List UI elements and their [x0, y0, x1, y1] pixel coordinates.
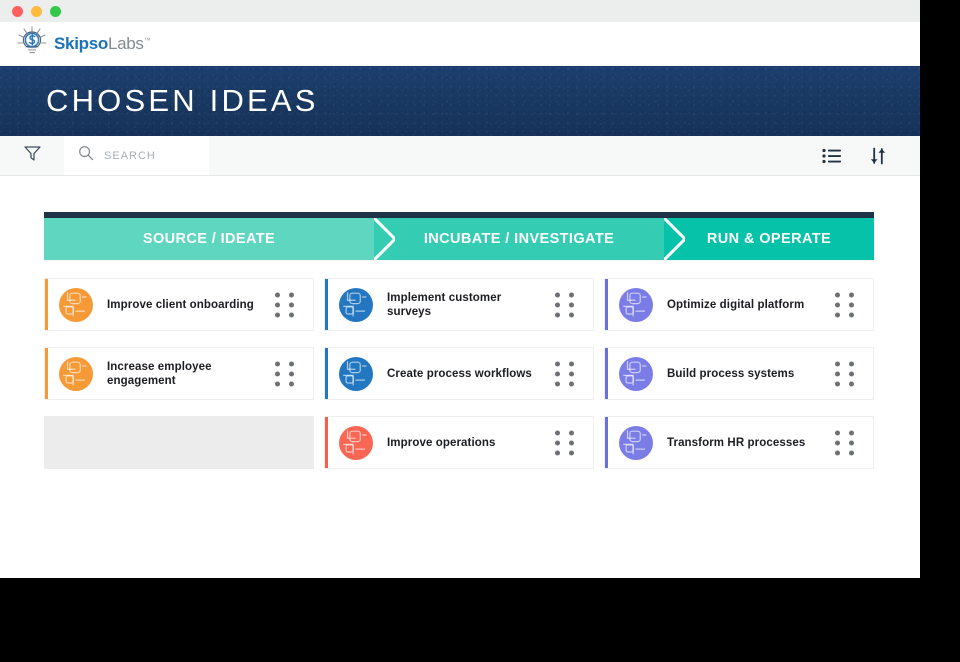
toolbar-actions: [822, 136, 920, 175]
toolbar-spacer: [209, 136, 822, 175]
stage-1[interactable]: INCUBATE / INVESTIGATE: [374, 218, 664, 260]
page-hero-banner: CHOSEN IDEAS: [0, 66, 920, 136]
card-accent-bar: [45, 348, 48, 399]
search-icon: [78, 145, 94, 166]
card-title: Optimize digital platform: [667, 298, 817, 312]
stage-label: RUN & OPERATE: [707, 231, 831, 247]
idea-card[interactable]: Transform HR processes: [604, 416, 874, 469]
drag-handle-icon[interactable]: [555, 361, 576, 386]
card-avatar: [59, 357, 93, 391]
title-accent-dot: [308, 92, 311, 95]
board-area: SOURCE / IDEATEINCUBATE / INVESTIGATERUN…: [0, 176, 920, 469]
lightbulb-s-icon: [16, 26, 50, 61]
stage-2[interactable]: RUN & OPERATE: [664, 218, 874, 260]
idea-card[interactable]: Improve operations: [324, 416, 594, 469]
window-titlebar: [0, 0, 920, 22]
card-title: Create process workflows: [387, 367, 537, 381]
card-title: Build process systems: [667, 367, 817, 381]
stage-bar: SOURCE / IDEATEINCUBATE / INVESTIGATERUN…: [44, 218, 874, 260]
drag-handle-icon[interactable]: [555, 430, 576, 455]
idea-card[interactable]: Increase employee engagement: [44, 347, 314, 400]
card-accent-bar: [325, 348, 328, 399]
board-toolbar: [0, 136, 920, 176]
idea-card[interactable]: Optimize digital platform: [604, 278, 874, 331]
brand-logo[interactable]: SkipsoLabs™: [16, 26, 150, 61]
sort-button[interactable]: [868, 146, 888, 166]
abstract-shapes-icon: [59, 357, 93, 391]
page-title: CHOSEN IDEAS: [46, 83, 319, 119]
card-avatar: [339, 357, 373, 391]
logo-bar: SkipsoLabs™: [0, 22, 920, 66]
empty-drop-slot[interactable]: [44, 416, 314, 469]
list-view-button[interactable]: [822, 147, 842, 165]
stage-0[interactable]: SOURCE / IDEATE: [44, 218, 374, 260]
search-input[interactable]: [104, 150, 190, 162]
stage-chevron-icon: [664, 218, 685, 260]
card-avatar: [339, 288, 373, 322]
card-avatar: [59, 288, 93, 322]
card-title: Transform HR processes: [667, 436, 817, 450]
card-avatar: [619, 288, 653, 322]
minimize-window-button[interactable]: [31, 6, 42, 17]
drag-handle-icon[interactable]: [835, 430, 856, 455]
drag-handle-icon[interactable]: [835, 361, 856, 386]
abstract-shapes-icon: [339, 357, 373, 391]
abstract-shapes-icon: [59, 288, 93, 322]
card-avatar: [339, 426, 373, 460]
drag-handle-icon[interactable]: [275, 292, 296, 317]
card-accent-bar: [605, 348, 608, 399]
idea-card[interactable]: Create process workflows: [324, 347, 594, 400]
card-title: Increase employee engagement: [107, 360, 257, 388]
card-title: Implement customer surveys: [387, 291, 537, 319]
frame-bottom-edge: [0, 578, 960, 662]
filter-funnel-icon: [23, 144, 42, 168]
stage-label: INCUBATE / INVESTIGATE: [424, 231, 614, 247]
card-title: Improve client onboarding: [107, 298, 257, 312]
brand-name-light: Labs: [108, 34, 144, 53]
abstract-shapes-icon: [339, 426, 373, 460]
idea-card-grid: Improve client onboardingImplement custo…: [44, 278, 880, 469]
card-accent-bar: [325, 279, 328, 330]
card-accent-bar: [45, 279, 48, 330]
drag-handle-icon[interactable]: [835, 292, 856, 317]
abstract-shapes-icon: [619, 288, 653, 322]
maximize-window-button[interactable]: [50, 6, 61, 17]
stage-chevron-icon: [374, 218, 395, 260]
filter-button[interactable]: [0, 136, 64, 175]
pencil-image: [695, 131, 815, 136]
abstract-shapes-icon: [339, 288, 373, 322]
search-box[interactable]: [64, 136, 209, 175]
drag-handle-icon[interactable]: [555, 292, 576, 317]
idea-card[interactable]: Build process systems: [604, 347, 874, 400]
card-accent-bar: [605, 417, 608, 468]
close-window-button[interactable]: [12, 6, 23, 17]
card-accent-bar: [325, 417, 328, 468]
frame-right-edge: [920, 0, 960, 578]
brand-name: SkipsoLabs™: [54, 34, 150, 54]
drag-handle-icon[interactable]: [275, 361, 296, 386]
browser-window: SkipsoLabs™ CHOSEN IDEAS: [0, 0, 920, 578]
abstract-shapes-icon: [619, 426, 653, 460]
stage-bar-wrapper: SOURCE / IDEATEINCUBATE / INVESTIGATERUN…: [44, 212, 874, 260]
abstract-shapes-icon: [619, 357, 653, 391]
idea-card[interactable]: Improve client onboarding: [44, 278, 314, 331]
brand-name-bold: Skipso: [54, 34, 108, 53]
card-title: Improve operations: [387, 436, 537, 450]
brand-trademark: ™: [144, 37, 151, 44]
card-avatar: [619, 426, 653, 460]
sort-arrows-icon: [868, 146, 888, 166]
list-view-icon: [822, 147, 842, 165]
card-accent-bar: [605, 279, 608, 330]
stage-label: SOURCE / IDEATE: [143, 231, 275, 247]
card-avatar: [619, 357, 653, 391]
idea-card[interactable]: Implement customer surveys: [324, 278, 594, 331]
